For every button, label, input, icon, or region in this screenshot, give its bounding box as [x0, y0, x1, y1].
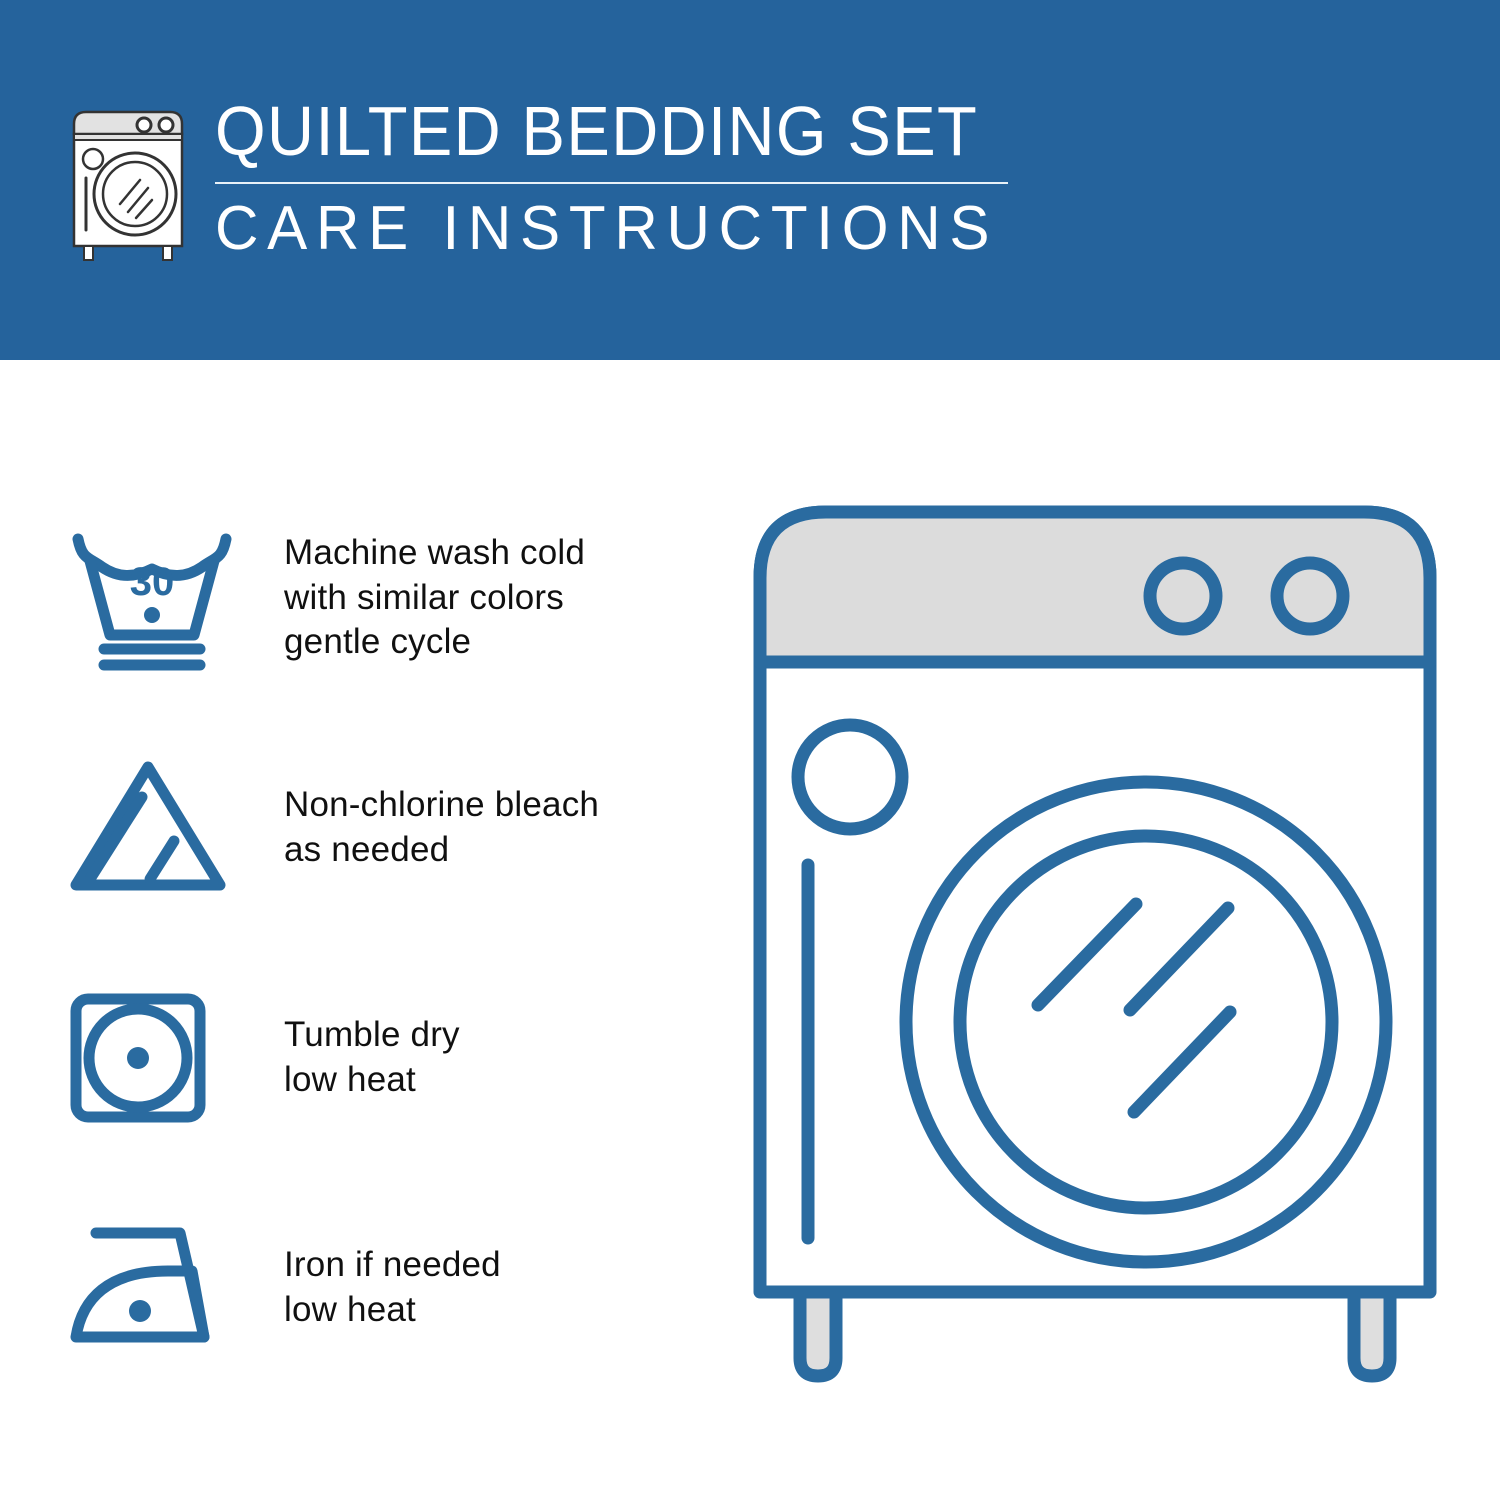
- care-line: as needed: [284, 828, 720, 873]
- care-row-bleach: Non-chlorine bleach as needed: [0, 738, 720, 918]
- drum-inner-ring: [960, 836, 1332, 1208]
- washing-machine-icon: [62, 104, 194, 264]
- leg-left: [800, 1290, 836, 1376]
- detergent-drawer-circle: [798, 725, 902, 829]
- front-load-washing-machine-illustration: [740, 490, 1450, 1410]
- header-text-block: QUILTED BEDDING SET CARE INSTRUCTIONS: [215, 96, 1025, 260]
- care-text-iron: Iron if needed low heat: [284, 1243, 720, 1333]
- care-line: Non-chlorine bleach: [284, 783, 720, 828]
- care-line: Machine wash cold: [284, 531, 720, 576]
- care-instruction-list: 30 Machine wash cold with similar colors…: [0, 360, 720, 1500]
- iron-low-heat-icon: [62, 1203, 262, 1373]
- care-instructions-page: QUILTED BEDDING SET CARE INSTRUCTIONS: [0, 0, 1500, 1500]
- care-text-machine-wash: Machine wash cold with similar colors ge…: [284, 531, 720, 665]
- page-title: QUILTED BEDDING SET: [215, 96, 968, 166]
- wash-tub-30-gentle-icon: 30: [62, 513, 262, 683]
- care-row-iron: Iron if needed low heat: [0, 1198, 720, 1378]
- care-line: gentle cycle: [284, 620, 720, 665]
- care-line: Iron if needed: [284, 1243, 720, 1288]
- care-line: with similar colors: [284, 576, 720, 621]
- page-subtitle: CARE INSTRUCTIONS: [215, 198, 1001, 260]
- knob-left: [1150, 563, 1216, 629]
- non-chlorine-bleach-triangle-icon: [62, 743, 262, 913]
- care-row-tumble-dry: Tumble dry low heat: [0, 968, 720, 1148]
- title-divider: [215, 182, 1008, 184]
- tumble-dry-low-icon: [62, 973, 262, 1143]
- care-line: low heat: [284, 1058, 720, 1103]
- leg-right: [1354, 1290, 1390, 1376]
- care-row-machine-wash: 30 Machine wash cold with similar colors…: [0, 508, 720, 688]
- knob-right: [1277, 563, 1343, 629]
- header-banner: QUILTED BEDDING SET CARE INSTRUCTIONS: [0, 0, 1500, 360]
- care-text-bleach: Non-chlorine bleach as needed: [284, 783, 720, 873]
- care-line: low heat: [284, 1288, 720, 1333]
- care-line: Tumble dry: [284, 1013, 720, 1058]
- wash-temperature-value: 30: [130, 560, 175, 604]
- care-text-tumble-dry: Tumble dry low heat: [284, 1013, 720, 1103]
